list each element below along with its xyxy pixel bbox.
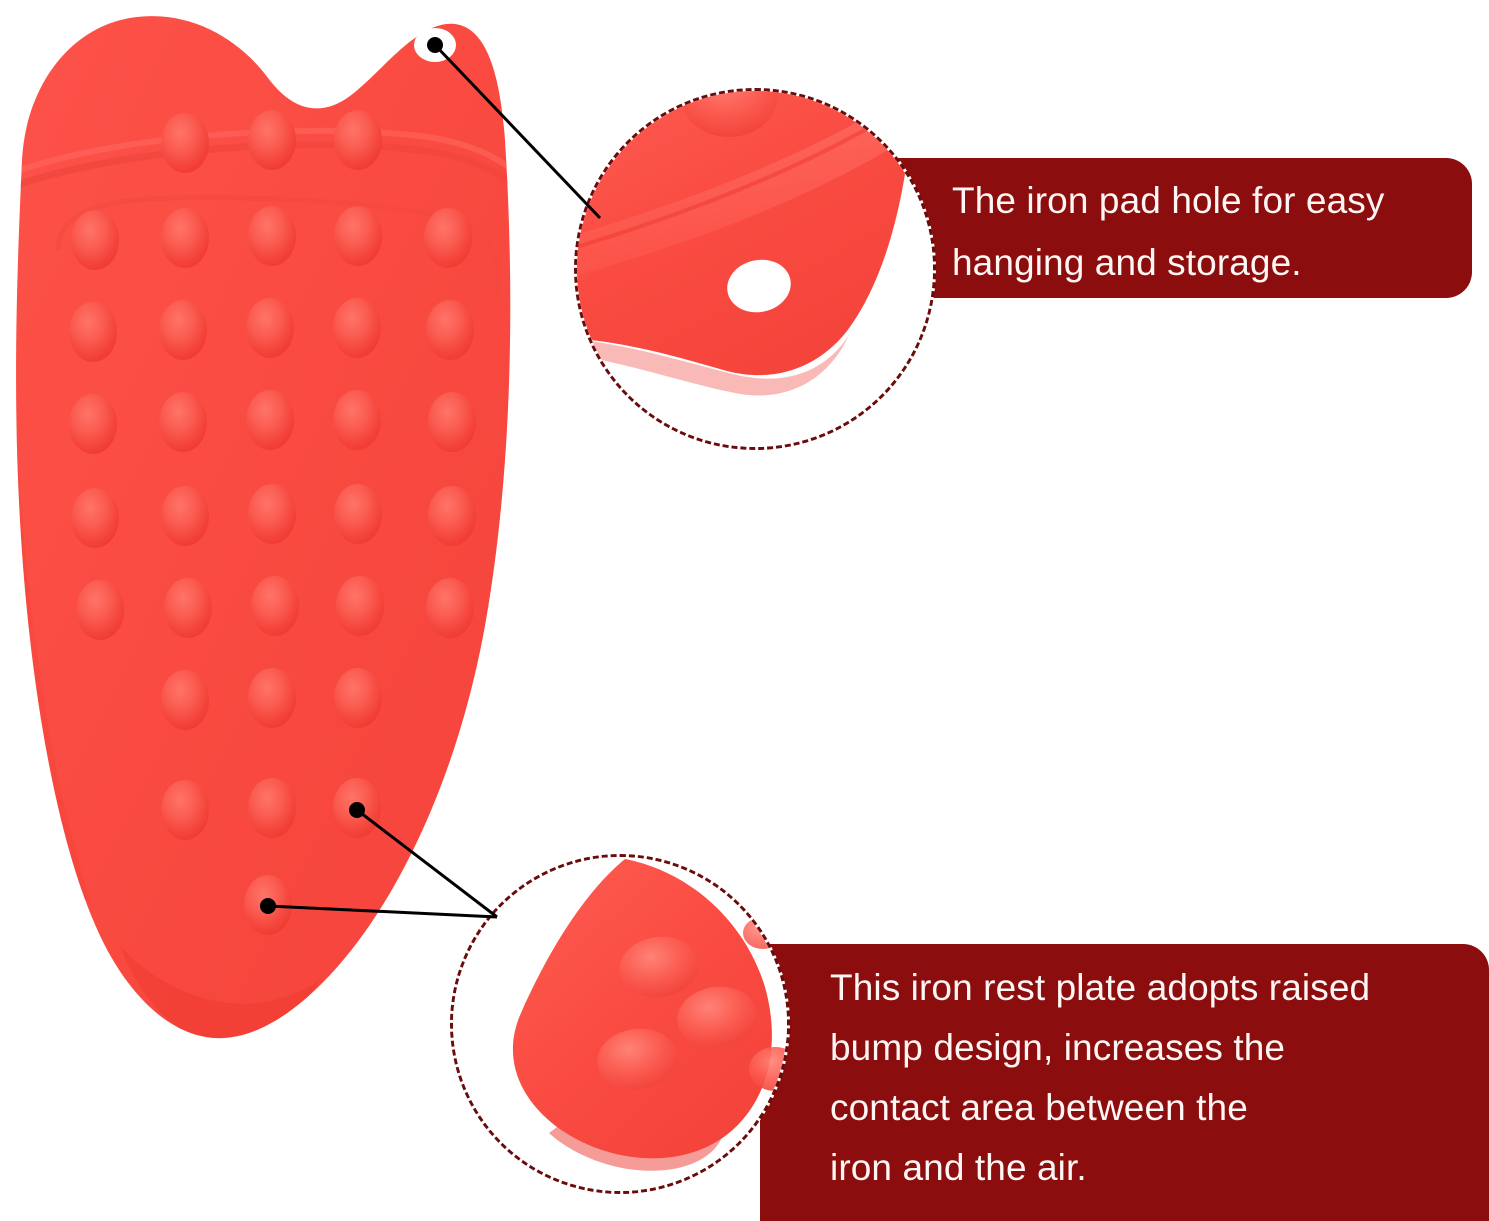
zoom-hole-detail-art	[577, 91, 933, 447]
zoom-circle-hole	[574, 88, 936, 450]
hanging-hole-icon	[414, 28, 456, 62]
bump	[164, 578, 212, 638]
caption-line: This iron rest plate adopts raised	[830, 958, 1469, 1018]
bump	[428, 392, 476, 452]
bump	[69, 394, 117, 454]
bump	[251, 576, 299, 636]
caption-banner-hole: The iron pad hole for easy hanging and s…	[880, 158, 1472, 298]
bump	[428, 486, 476, 546]
bump	[334, 668, 382, 728]
bump	[76, 580, 124, 640]
caption-line: iron and the air.	[830, 1138, 1469, 1198]
bump	[333, 298, 381, 358]
bump	[71, 488, 119, 548]
bump	[334, 484, 382, 544]
bump	[69, 302, 117, 362]
zoom-circle-bumps	[450, 854, 790, 1194]
bump	[161, 208, 209, 268]
bump	[159, 300, 207, 360]
bump	[246, 298, 294, 358]
caption-line: contact area between the	[830, 1078, 1469, 1138]
caption-line: The iron pad hole for easy	[952, 170, 1452, 232]
bump	[424, 208, 472, 268]
infographic-canvas: The iron pad hole for easy hanging and s…	[0, 0, 1489, 1221]
bump	[248, 206, 296, 266]
bump	[334, 110, 382, 170]
iron-pad-body	[0, 16, 520, 1040]
bump	[334, 206, 382, 266]
caption-banner-bumps: This iron rest plate adopts raised bump …	[760, 944, 1489, 1221]
zoom-bump-detail-art	[453, 857, 787, 1191]
bump-marked	[333, 778, 381, 838]
bump	[333, 390, 381, 450]
bump	[161, 670, 209, 730]
caption-line: bump design, increases the	[830, 1018, 1469, 1078]
bump	[246, 390, 294, 450]
bump	[248, 668, 296, 728]
bump	[248, 778, 296, 838]
caption-line: hanging and storage.	[952, 232, 1452, 294]
bump	[159, 392, 207, 452]
bump	[426, 578, 474, 638]
bump	[161, 780, 209, 840]
bump	[161, 113, 209, 173]
bump	[248, 484, 296, 544]
bump-marked	[244, 875, 292, 935]
bump	[336, 576, 384, 636]
bump	[426, 300, 474, 360]
bump	[71, 210, 119, 270]
bump	[248, 110, 296, 170]
bump	[161, 486, 209, 546]
